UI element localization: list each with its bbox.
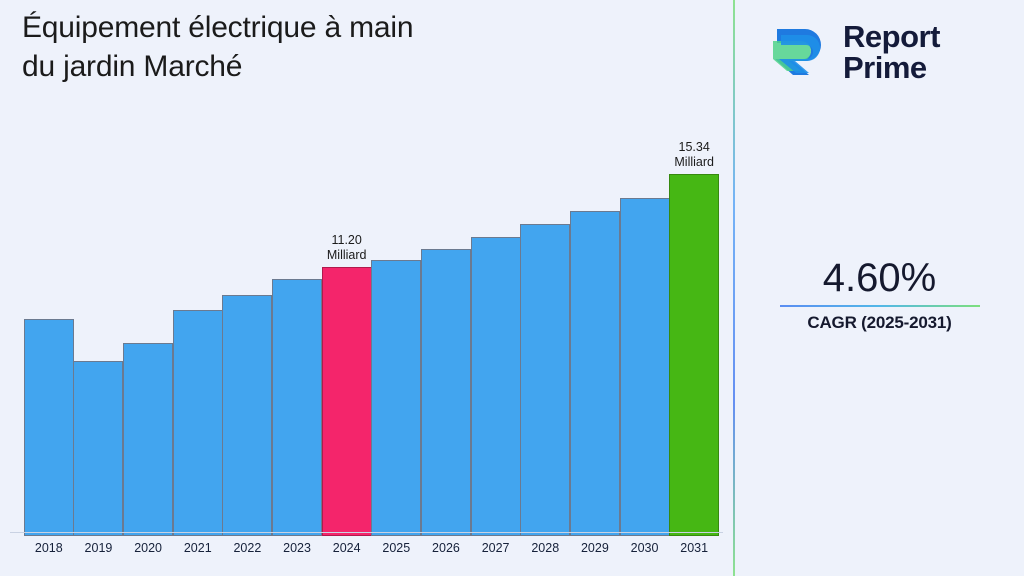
bar-column (570, 140, 620, 536)
x-axis-tick-label: 2029 (570, 541, 620, 555)
right-panel: Report Prime 4.60% CAGR (2025-2031) (735, 0, 1024, 576)
bar (222, 295, 272, 536)
x-axis-tick-label: 2028 (520, 541, 570, 555)
bar (669, 174, 719, 536)
report-prime-logo: Report Prime (771, 14, 1011, 90)
x-axis-tick-label: 2024 (322, 541, 372, 555)
x-axis-tick-label: 2021 (173, 541, 223, 555)
x-axis-tick-label: 2018 (24, 541, 74, 555)
x-axis-tick-label: 2031 (669, 541, 719, 555)
cagr-block: 4.60% CAGR (2025-2031) (735, 255, 1024, 333)
chart-title: Équipement électrique à main du jardin M… (22, 8, 442, 86)
x-axis-tick-label: 2019 (73, 541, 123, 555)
bar-value-label: 11.20 Milliard (327, 233, 367, 263)
x-axis-tick-label: 2023 (272, 541, 322, 555)
bar-column (371, 140, 421, 536)
bar-column (222, 140, 272, 536)
bar (471, 237, 521, 536)
bar (421, 249, 471, 536)
report-prime-logo-text: Report Prime (843, 21, 940, 83)
x-axis-tick-label: 2026 (421, 541, 471, 555)
bar-column (520, 140, 570, 536)
x-axis-tick-label: 2027 (471, 541, 521, 555)
bar (24, 319, 74, 536)
bar (73, 361, 123, 536)
bar (520, 224, 570, 536)
cagr-divider-rule (780, 305, 980, 307)
bar-column (24, 140, 74, 536)
bar (570, 211, 620, 536)
bar-column (471, 140, 521, 536)
cagr-value: 4.60% (735, 255, 1024, 301)
bar-column (173, 140, 223, 536)
bar (620, 198, 670, 536)
bar (371, 260, 421, 536)
bar-column (73, 140, 123, 536)
bar (272, 279, 322, 536)
bar-column (272, 140, 322, 536)
report-prime-logo-icon (771, 21, 833, 83)
x-axis-tick-label: 2030 (620, 541, 670, 555)
bar-column (421, 140, 471, 536)
x-axis-tick-label: 2022 (222, 541, 272, 555)
chart-panel: Équipement électrique à main du jardin M… (0, 0, 733, 576)
bar (123, 343, 173, 536)
bar (322, 267, 372, 536)
chart-infographic: Équipement électrique à main du jardin M… (0, 0, 1024, 576)
x-axis-tick-label: 2025 (371, 541, 421, 555)
x-axis-line (10, 532, 723, 533)
x-axis-tick-labels: 2018201920202021202220232024202520262027… (10, 538, 723, 560)
bar (173, 310, 223, 536)
bar-chart-plot-area: 11.20 Milliard15.34 Milliard (10, 140, 723, 536)
bar-column (620, 140, 670, 536)
bar-column: 11.20 Milliard (322, 140, 372, 536)
x-axis-tick-label: 2020 (123, 541, 173, 555)
bar-column: 15.34 Milliard (669, 140, 719, 536)
logo-line-1: Report (843, 21, 940, 52)
cagr-caption: CAGR (2025-2031) (735, 313, 1024, 333)
bar-value-label: 15.34 Milliard (674, 140, 714, 170)
bar-column (123, 140, 173, 536)
logo-line-2: Prime (843, 52, 940, 83)
